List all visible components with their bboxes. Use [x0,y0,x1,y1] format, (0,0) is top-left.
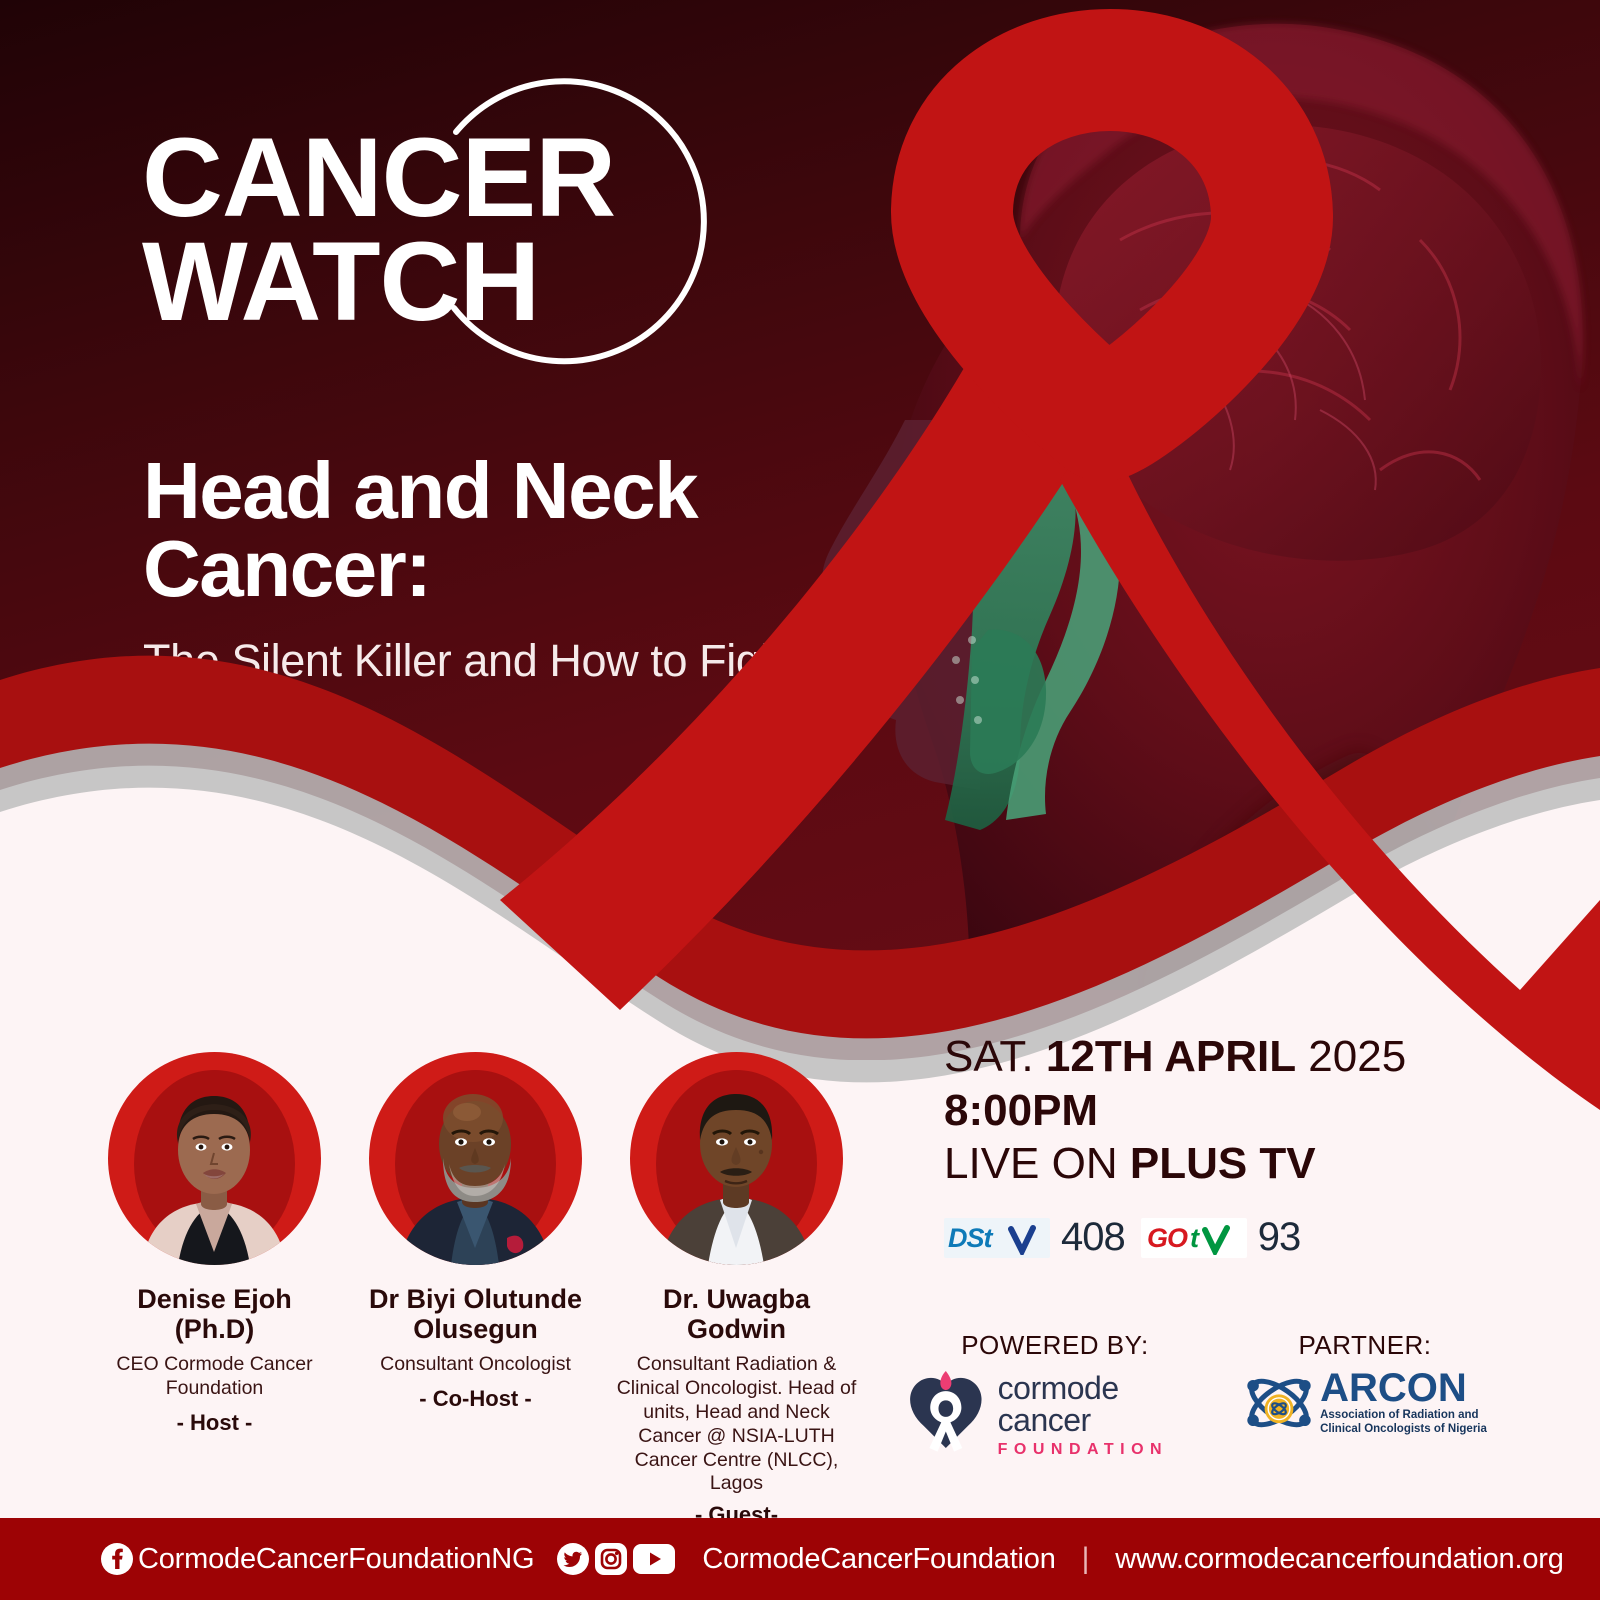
poster-canvas: CANCER WATCH Head and Neck Cancer: The S… [0,0,1600,1600]
awareness-ribbon-lower-icon [0,0,1600,1600]
